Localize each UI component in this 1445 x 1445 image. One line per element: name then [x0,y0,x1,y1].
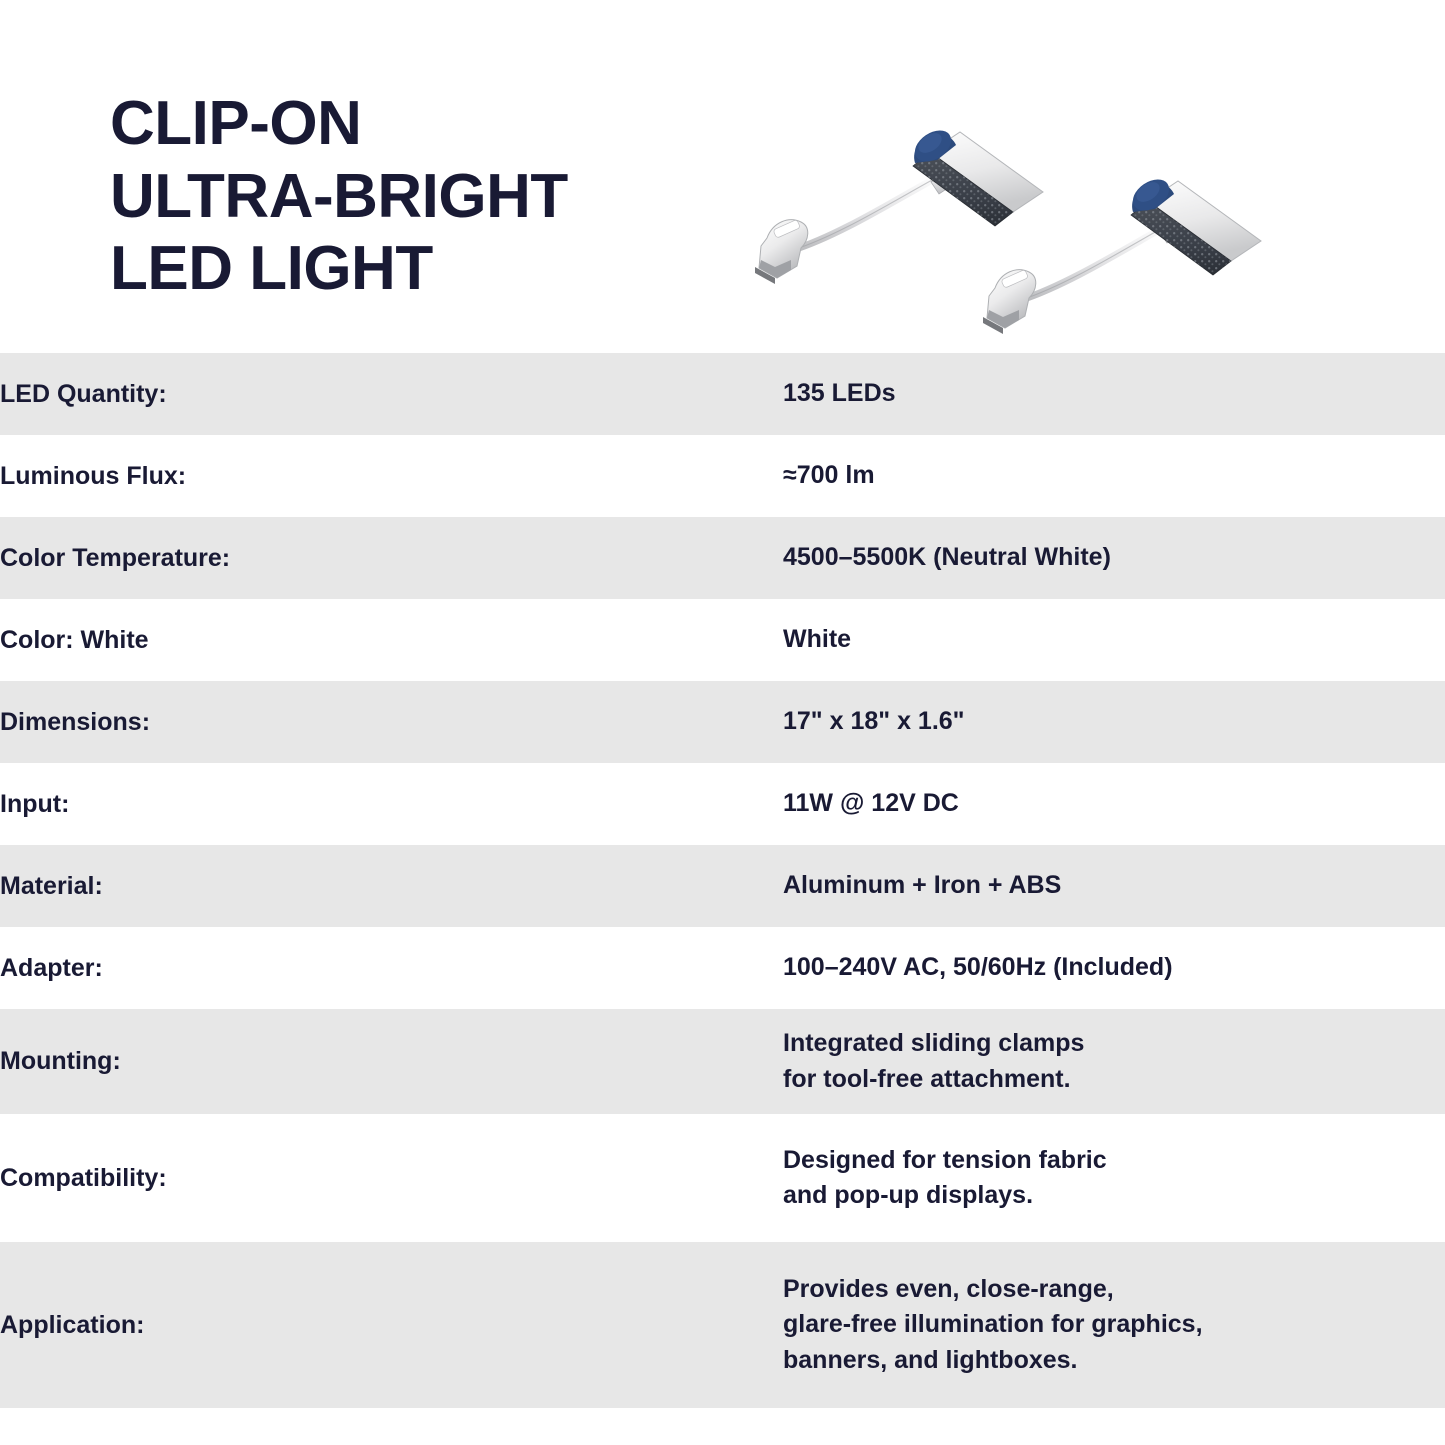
spec-value: ≈700 lm [783,435,1445,517]
table-row: Mounting: Integrated sliding clamps for … [0,1009,1445,1114]
spec-label: Input: [0,763,783,845]
page-title: CLIP-ON ULTRA-BRIGHT LED LIGHT [110,88,568,306]
spec-value: 4500–5500K (Neutral White) [783,517,1445,599]
spec-label: Compatibility: [0,1114,783,1242]
spec-value: Aluminum + Iron + ABS [783,845,1445,927]
table-row: Color: White White [0,599,1445,681]
spec-table: LED Quantity: 135 LEDs Luminous Flux: ≈7… [0,353,1445,1408]
table-row: Adapter: 100–240V AC, 50/60Hz (Included) [0,927,1445,1009]
spec-label: Adapter: [0,927,783,1009]
header-section: CLIP-ON ULTRA-BRIGHT LED LIGHT [0,0,1445,353]
led-lamp-unit-1 [755,124,1043,284]
table-row: Input: 11W @ 12V DC [0,763,1445,845]
table-row: Compatibility: Designed for tension fabr… [0,1114,1445,1242]
spec-label: Mounting: [0,1009,783,1114]
spec-value: 17" x 18" x 1.6" [783,681,1445,763]
spec-value: 100–240V AC, 50/60Hz (Included) [783,927,1445,1009]
led-clip-light-pair-icon [745,70,1305,345]
spec-value: 135 LEDs [783,353,1445,435]
spec-value: White [783,599,1445,681]
table-row: Color Temperature: 4500–5500K (Neutral W… [0,517,1445,599]
product-spec-sheet: CLIP-ON ULTRA-BRIGHT LED LIGHT [0,0,1445,1445]
spec-label: LED Quantity: [0,353,783,435]
table-row: Luminous Flux: ≈700 lm [0,435,1445,517]
spec-label: Application: [0,1242,783,1408]
spec-value: Designed for tension fabric and pop-up d… [783,1114,1445,1242]
spec-label: Color Temperature: [0,517,783,599]
spec-value: 11W @ 12V DC [783,763,1445,845]
spec-table-body: LED Quantity: 135 LEDs Luminous Flux: ≈7… [0,353,1445,1408]
spec-value: Integrated sliding clamps for tool-free … [783,1009,1445,1114]
table-row: LED Quantity: 135 LEDs [0,353,1445,435]
spec-label: Color: White [0,599,783,681]
table-row: Application: Provides even, close-range,… [0,1242,1445,1408]
spec-value: Provides even, close-range, glare-free i… [783,1242,1445,1408]
table-row: Dimensions: 17" x 18" x 1.6" [0,681,1445,763]
table-row: Material: Aluminum + Iron + ABS [0,845,1445,927]
spec-label: Luminous Flux: [0,435,783,517]
spec-label: Dimensions: [0,681,783,763]
spec-label: Material: [0,845,783,927]
